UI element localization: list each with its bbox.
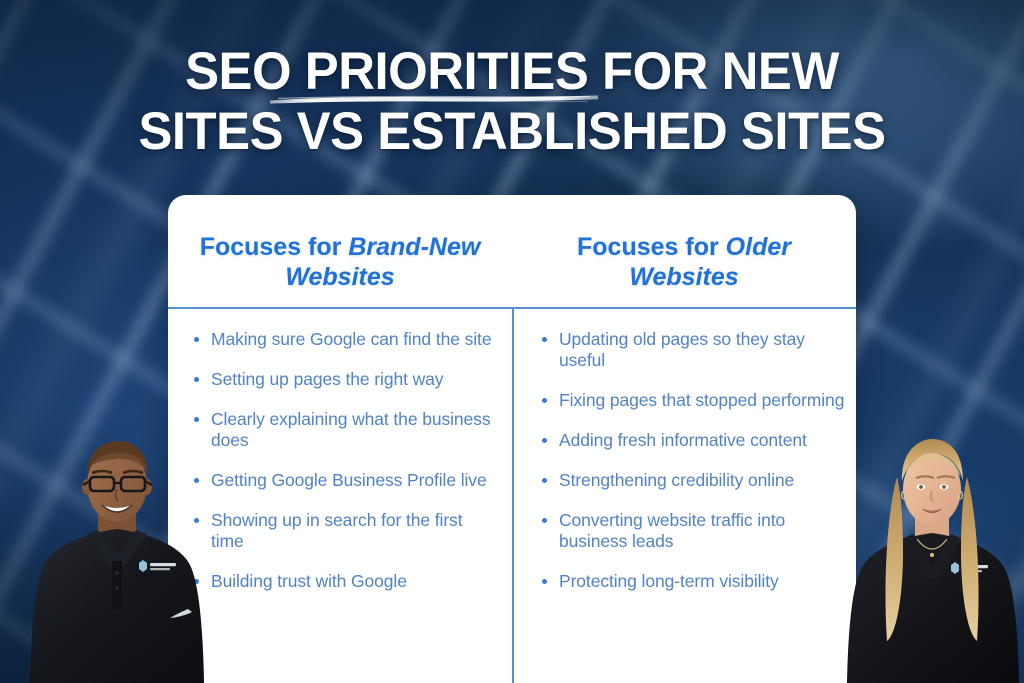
- column-header-prefix-left: Focuses for: [200, 233, 349, 261]
- card-body-row: Making sure Google can find the site Set…: [168, 309, 856, 683]
- bullet-list-new-sites: Making sure Google can find the site Set…: [190, 329, 496, 592]
- column-new-sites: Making sure Google can find the site Set…: [168, 309, 512, 683]
- column-header-prefix-right: Focuses for: [577, 233, 726, 261]
- column-older-sites: Updating old pages so they stay useful F…: [512, 309, 856, 683]
- list-item: Showing up in search for the first time: [190, 510, 496, 552]
- infographic-canvas: SEO PRIORITIES FOR NEW SITES VS ESTABLIS…: [0, 0, 1024, 683]
- title-line-1: SEO PRIORITIES FOR NEW: [20, 42, 1003, 102]
- list-item: Protecting long-term visibility: [538, 571, 846, 592]
- list-item: Updating old pages so they stay useful: [538, 329, 846, 371]
- column-header-older-sites: Focuses for Older Websites: [512, 195, 856, 307]
- comparison-card: Focuses for Brand-New Websites Focuses f…: [168, 195, 856, 683]
- list-item: Clearly explaining what the business doe…: [190, 409, 496, 451]
- list-item: Making sure Google can find the site: [190, 329, 496, 350]
- list-item: Setting up pages the right way: [190, 369, 496, 390]
- column-header-new-sites: Focuses for Brand-New Websites: [168, 195, 512, 307]
- list-item: Getting Google Business Profile live: [190, 470, 496, 491]
- page-title: SEO PRIORITIES FOR NEW SITES VS ESTABLIS…: [0, 42, 1024, 162]
- list-item: Building trust with Google: [190, 571, 496, 592]
- list-item: Fixing pages that stopped performing: [538, 390, 846, 411]
- column-divider-vertical: [512, 309, 514, 683]
- card-header-row: Focuses for Brand-New Websites Focuses f…: [168, 195, 856, 307]
- list-item: Adding fresh informative content: [538, 430, 846, 451]
- list-item: Strengthening credibility online: [538, 470, 846, 491]
- list-item: Converting website traffic into business…: [538, 510, 846, 552]
- bullet-list-older-sites: Updating old pages so they stay useful F…: [538, 329, 846, 592]
- title-line-2: SITES VS ESTABLISHED SITES: [20, 102, 1003, 162]
